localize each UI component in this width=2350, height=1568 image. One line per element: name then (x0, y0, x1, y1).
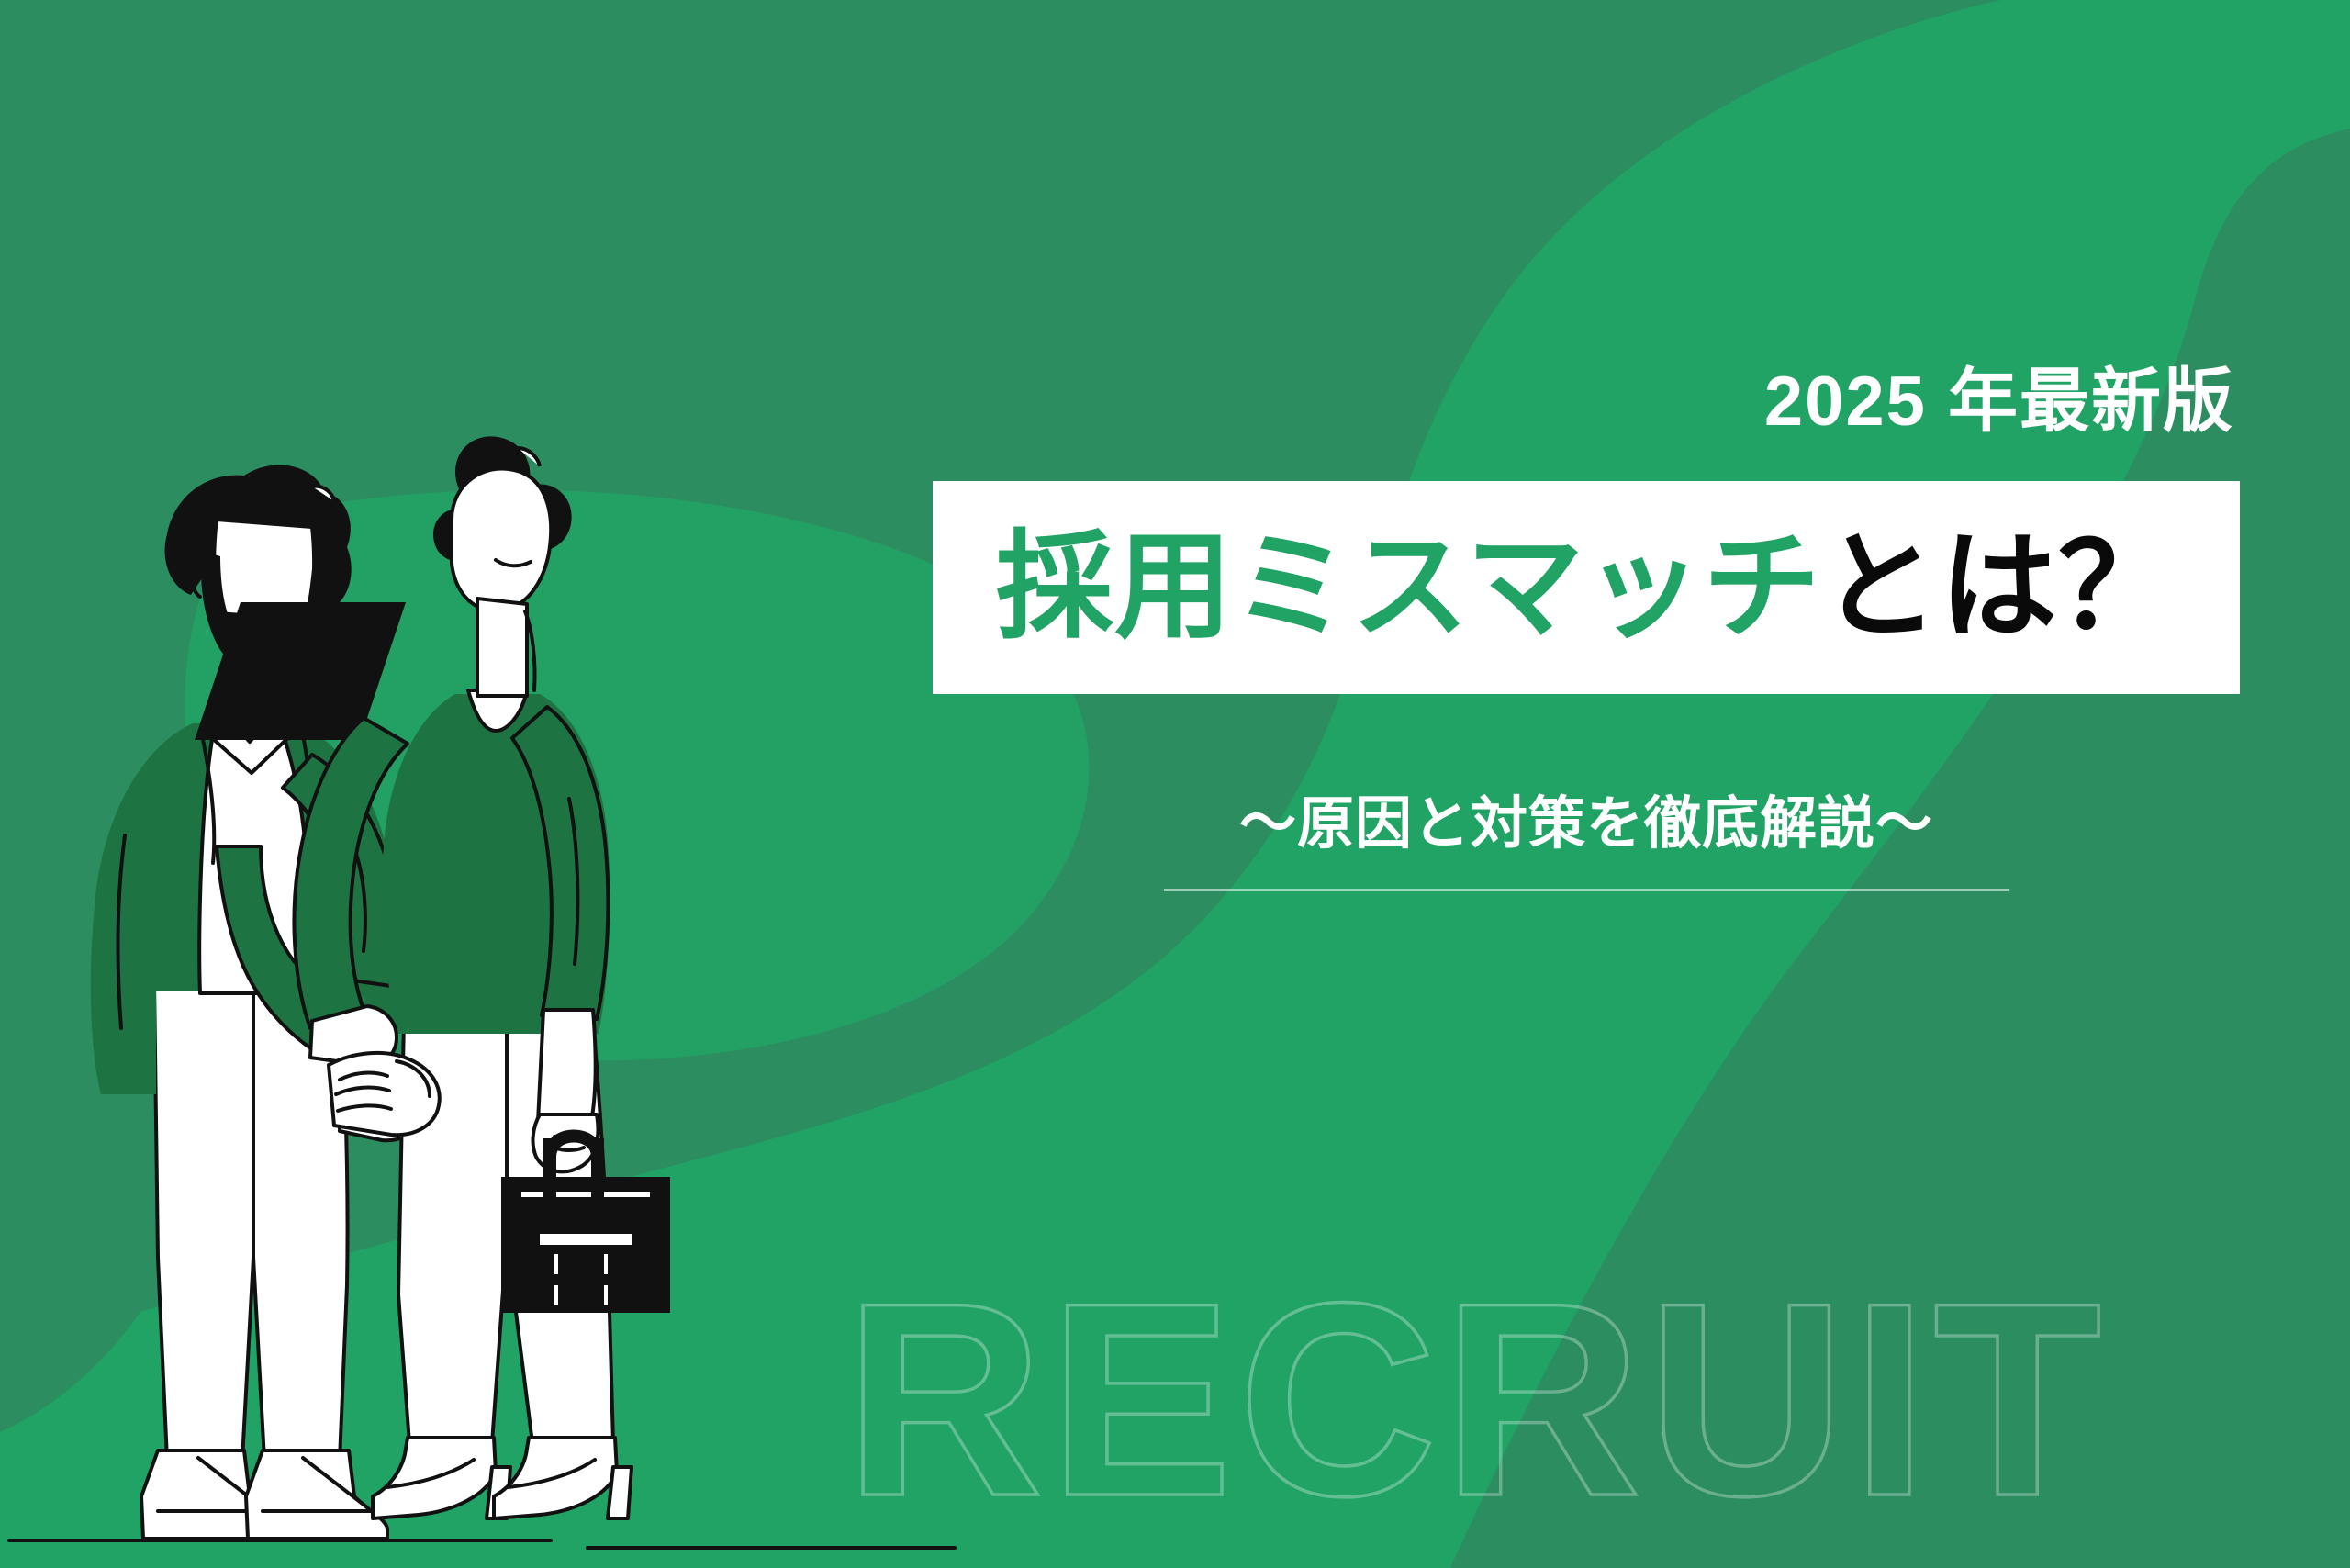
page-title: 採用ミスマッチとは？ (996, 529, 2177, 646)
briefcase-stitch-3 (554, 1285, 558, 1305)
briefcase-stitch-4 (604, 1285, 608, 1305)
thumbnail-canvas: RECRUIT .ln{fill:none;stroke:#111111;str… (0, 0, 2350, 1568)
title-panel: 採用ミスマッチとは？ (933, 481, 2240, 694)
woman-face (452, 468, 551, 610)
handshake (329, 1053, 440, 1135)
woman-neck (477, 599, 527, 696)
subtitle-block: 〜原因と対策を徹底解説〜 (933, 793, 2240, 891)
subtitle-text: 〜原因と対策を徹底解説〜 (933, 793, 2240, 856)
subtitle-divider (1164, 889, 2009, 891)
woman-head (433, 436, 572, 610)
woman-heel-right-stack (608, 1467, 632, 1518)
briefcase-stitch-2 (604, 1254, 608, 1274)
headline-block: 2025 年最新版 採用ミスマッチとは？ 〜原因と対策を徹底解説〜 (933, 367, 2240, 891)
briefcase-stitch-1 (554, 1254, 558, 1274)
man-shoe-right (246, 1450, 387, 1539)
illustration-svg: .ln{fill:none;stroke:#111111;stroke-widt… (37, 431, 955, 1561)
woman-right-forearm (538, 1010, 596, 1122)
briefcase-top-line (521, 1192, 650, 1197)
briefcase-clasp (540, 1234, 632, 1245)
people-illustration: .ln{fill:none;stroke:#111111;stroke-widt… (37, 431, 955, 1561)
eyebrow-label: 2025 年最新版 (933, 367, 2240, 437)
title-accent: 採用ミスマッチ (996, 521, 1821, 653)
handshake-hand-a (329, 1053, 440, 1135)
title-plain: とは？ (1821, 521, 2177, 653)
